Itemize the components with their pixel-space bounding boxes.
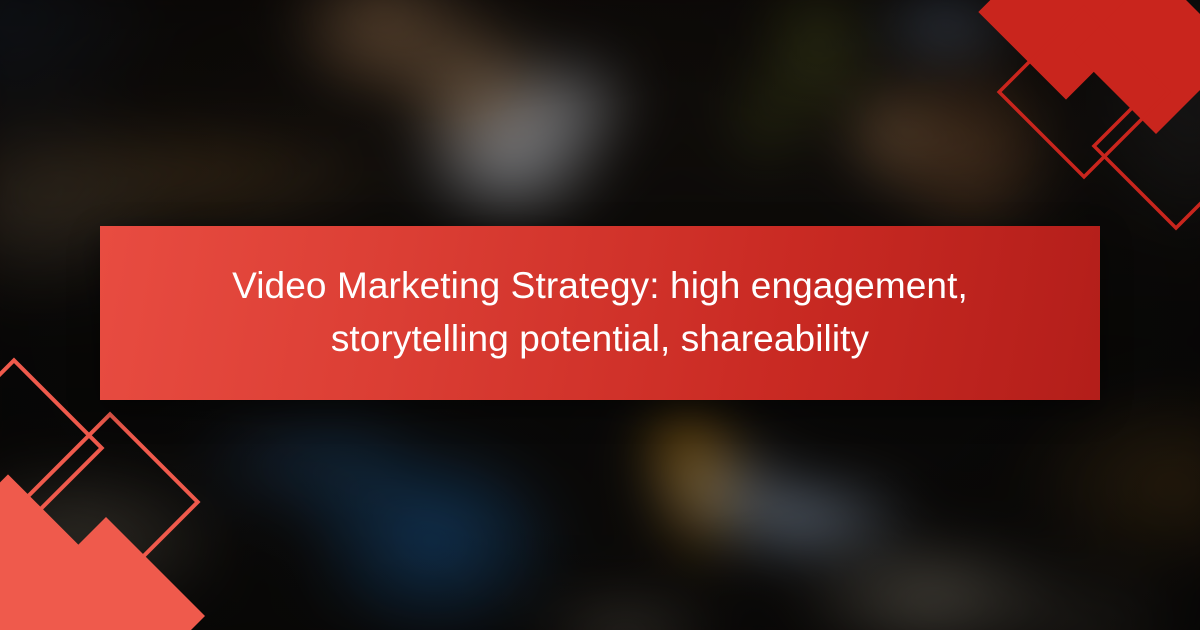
page-title: Video Marketing Strategy: high engagemen… (100, 260, 1100, 365)
diamond-filled-icon (978, 0, 1200, 134)
diamond-filled-icon (0, 474, 205, 630)
diamond-cluster-top-right (980, 0, 1200, 200)
title-banner: Video Marketing Strategy: high engagemen… (100, 226, 1100, 400)
og-card: Video Marketing Strategy: high engagemen… (0, 0, 1200, 630)
diamond-cluster-bottom-left (0, 410, 230, 630)
